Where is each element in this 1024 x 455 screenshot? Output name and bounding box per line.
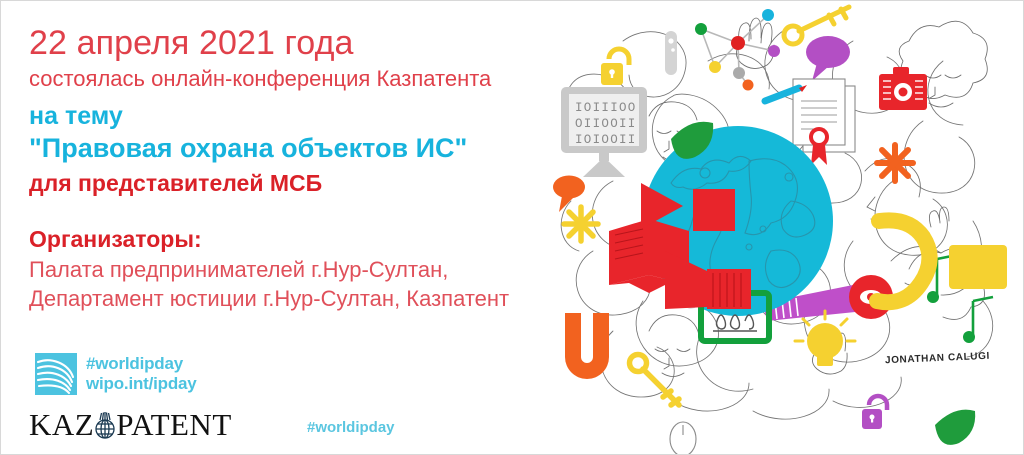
kazpatent-text-kaz: KAZ — [29, 407, 94, 443]
wipo-url: wipo.int/ipday — [86, 374, 197, 394]
organizer-item-1: Палата предпринимателей г.Нур-Султан, — [29, 255, 589, 284]
text-column: 22 апреля 2021 года состоялась онлайн-ко… — [29, 23, 589, 314]
audience-line: для представителей МСБ — [29, 169, 589, 198]
wipo-logo-text: #worldipday wipo.int/ipday — [86, 354, 197, 394]
wipo-mark-icon — [35, 353, 77, 395]
kazpatent-globe-icon — [91, 411, 119, 441]
event-date: 22 апреля 2021 года — [29, 23, 589, 63]
wipo-hashtag: #worldipday — [86, 354, 197, 374]
world-ip-day-banner: 22 апреля 2021 года состоялась онлайн-ко… — [0, 0, 1024, 455]
kazpatent-logo[interactable]: KAZ PATENT — [29, 407, 232, 443]
organizers-block: Организаторы: Палата предпринимателей г.… — [29, 225, 589, 313]
wipo-world-ip-day-logo[interactable]: #worldipday wipo.int/ipday — [35, 353, 197, 395]
world-ip-day-illustration: IOIIIOO OIIOOII IOIOOII — [553, 1, 1023, 455]
topic-label: на тему — [29, 101, 589, 132]
bottom-hashtag: #worldipday — [307, 419, 395, 436]
organizer-item-2: Департамент юстиции г.Нур-Султан, Казпат… — [29, 284, 589, 313]
topic-title: "Правовая охрана объектов ИС" — [29, 132, 589, 164]
kazpatent-text-patent: PATENT — [116, 407, 232, 443]
organizers-label: Организаторы: — [29, 225, 589, 255]
event-subtitle: состоялась онлайн-конференция Казпатента — [29, 65, 589, 94]
